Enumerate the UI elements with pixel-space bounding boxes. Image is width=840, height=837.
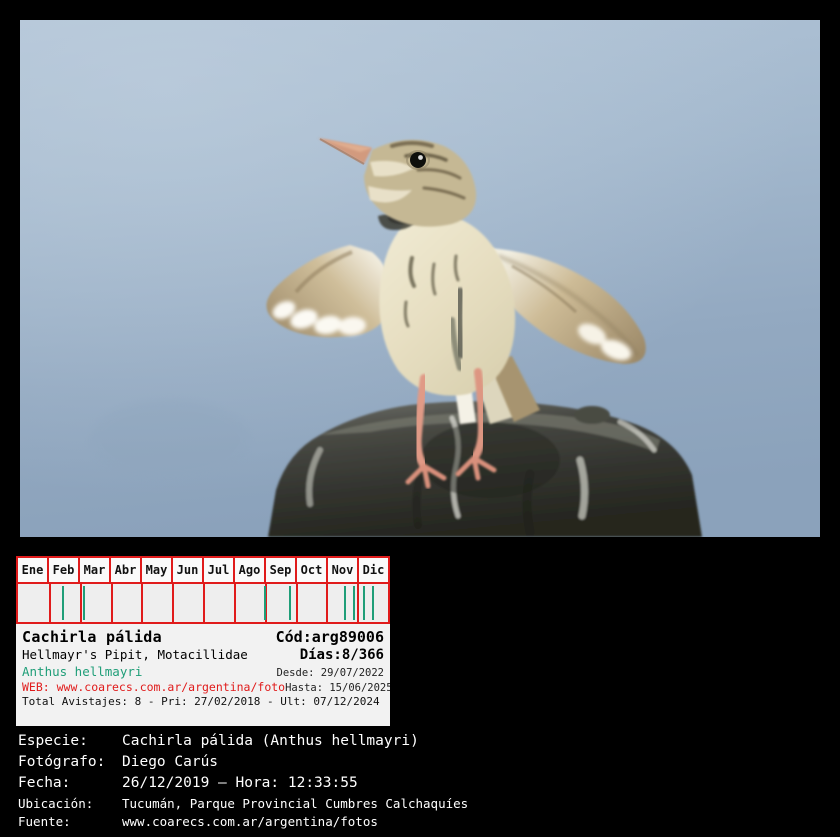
sighting-tick: [83, 586, 85, 620]
fecha-value: 26/12/2019 — Hora: 12:33:55: [122, 775, 828, 791]
month-cell-nov: Nov: [328, 558, 359, 582]
month-divider: [357, 584, 359, 622]
common-name: Cachirla pálida: [22, 628, 276, 646]
sighting-strip: [16, 584, 390, 624]
month-cell-ago: Ago: [235, 558, 266, 582]
month-divider: [141, 584, 143, 622]
fotografo-value: Diego Carús: [122, 754, 828, 770]
card-row-web: WEB: www.coarecs.com.ar/argentina/foto H…: [22, 680, 384, 694]
month-cell-ene: Ene: [18, 558, 49, 582]
card-row-total: Total Avistajes: 8 - Pri: 27/02/2018 - U…: [22, 695, 384, 708]
metadata-row-ubicacion: Ubicación: Tucumán, Parque Provincial Cu…: [18, 796, 828, 811]
sighting-tick: [264, 586, 266, 620]
month-divider: [111, 584, 113, 622]
metadata-row-fuente: Fuente: www.coarecs.com.ar/argentina/fot…: [18, 814, 828, 829]
month-divider: [326, 584, 328, 622]
fotografo-label: Fotógrafo:: [18, 754, 122, 770]
month-cell-jul: Jul: [204, 558, 235, 582]
fecha-label: Fecha:: [18, 775, 122, 791]
hasta-date: Hasta: 15/06/2025: [285, 682, 390, 694]
month-divider: [234, 584, 236, 622]
month-cell-jun: Jun: [173, 558, 204, 582]
month-cell-may: May: [142, 558, 173, 582]
card-text-block: Cachirla pálida Cód:arg89006 Hellmayr's …: [16, 624, 390, 708]
month-cell-mar: Mar: [80, 558, 111, 582]
month-cell-sep: Sep: [266, 558, 297, 582]
card-row-english-family: Hellmayr's Pipit, Motacillidae Días:8/36…: [22, 647, 384, 663]
bird-photo-image: [20, 20, 820, 537]
month-cell-dic: Dic: [359, 558, 388, 582]
especie-value: Cachirla pálida (Anthus hellmayri): [122, 733, 828, 749]
month-cell-oct: Oct: [297, 558, 328, 582]
sighting-tick: [353, 586, 355, 620]
desde-date: Desde: 29/07/2022: [277, 667, 384, 679]
month-divider: [203, 584, 205, 622]
month-cell-feb: Feb: [49, 558, 80, 582]
especie-label: Especie:: [18, 733, 122, 749]
phenology-card: Ene Feb Mar Abr May Jun Jul Ago Sep Oct …: [16, 556, 390, 726]
ubicacion-label: Ubicación:: [18, 796, 122, 811]
sighting-tick: [363, 586, 365, 620]
metadata-row-especie: Especie: Cachirla pálida (Anthus hellmay…: [18, 733, 828, 749]
species-code: Cód:arg89006: [276, 628, 384, 646]
english-name-family: Hellmayr's Pipit, Motacillidae: [22, 647, 300, 662]
sighting-tick: [62, 586, 64, 620]
scientific-name: Anthus hellmayri: [22, 664, 277, 679]
sighting-tick: [372, 586, 374, 620]
metadata-row-fotografo: Fotógrafo: Diego Carús: [18, 754, 828, 770]
month-divider: [172, 584, 174, 622]
total-sightings-line: Total Avistajes: 8 - Pri: 27/02/2018 - U…: [22, 695, 384, 708]
web-link[interactable]: WEB: www.coarecs.com.ar/argentina/foto: [22, 680, 285, 694]
fuente-label: Fuente:: [18, 814, 122, 829]
metadata-row-fecha: Fecha: 26/12/2019 — Hora: 12:33:55: [18, 775, 828, 791]
days-count: Días:8/366: [300, 647, 384, 663]
ubicacion-value: Tucumán, Parque Provincial Cumbres Calch…: [122, 796, 828, 811]
bird-photo: [20, 20, 820, 537]
month-divider: [296, 584, 298, 622]
sighting-tick: [289, 586, 291, 620]
month-divider: [80, 584, 82, 622]
metadata-block: Especie: Cachirla pálida (Anthus hellmay…: [18, 733, 828, 832]
card-row-scientific: Anthus hellmayri Desde: 29/07/2022: [22, 664, 384, 679]
month-cell-abr: Abr: [111, 558, 142, 582]
sighting-tick: [344, 586, 346, 620]
card-row-common-name: Cachirla pálida Cód:arg89006: [22, 628, 384, 646]
month-divider: [49, 584, 51, 622]
month-header-row: Ene Feb Mar Abr May Jun Jul Ago Sep Oct …: [16, 556, 390, 584]
fuente-value[interactable]: www.coarecs.com.ar/argentina/fotos: [122, 814, 828, 829]
